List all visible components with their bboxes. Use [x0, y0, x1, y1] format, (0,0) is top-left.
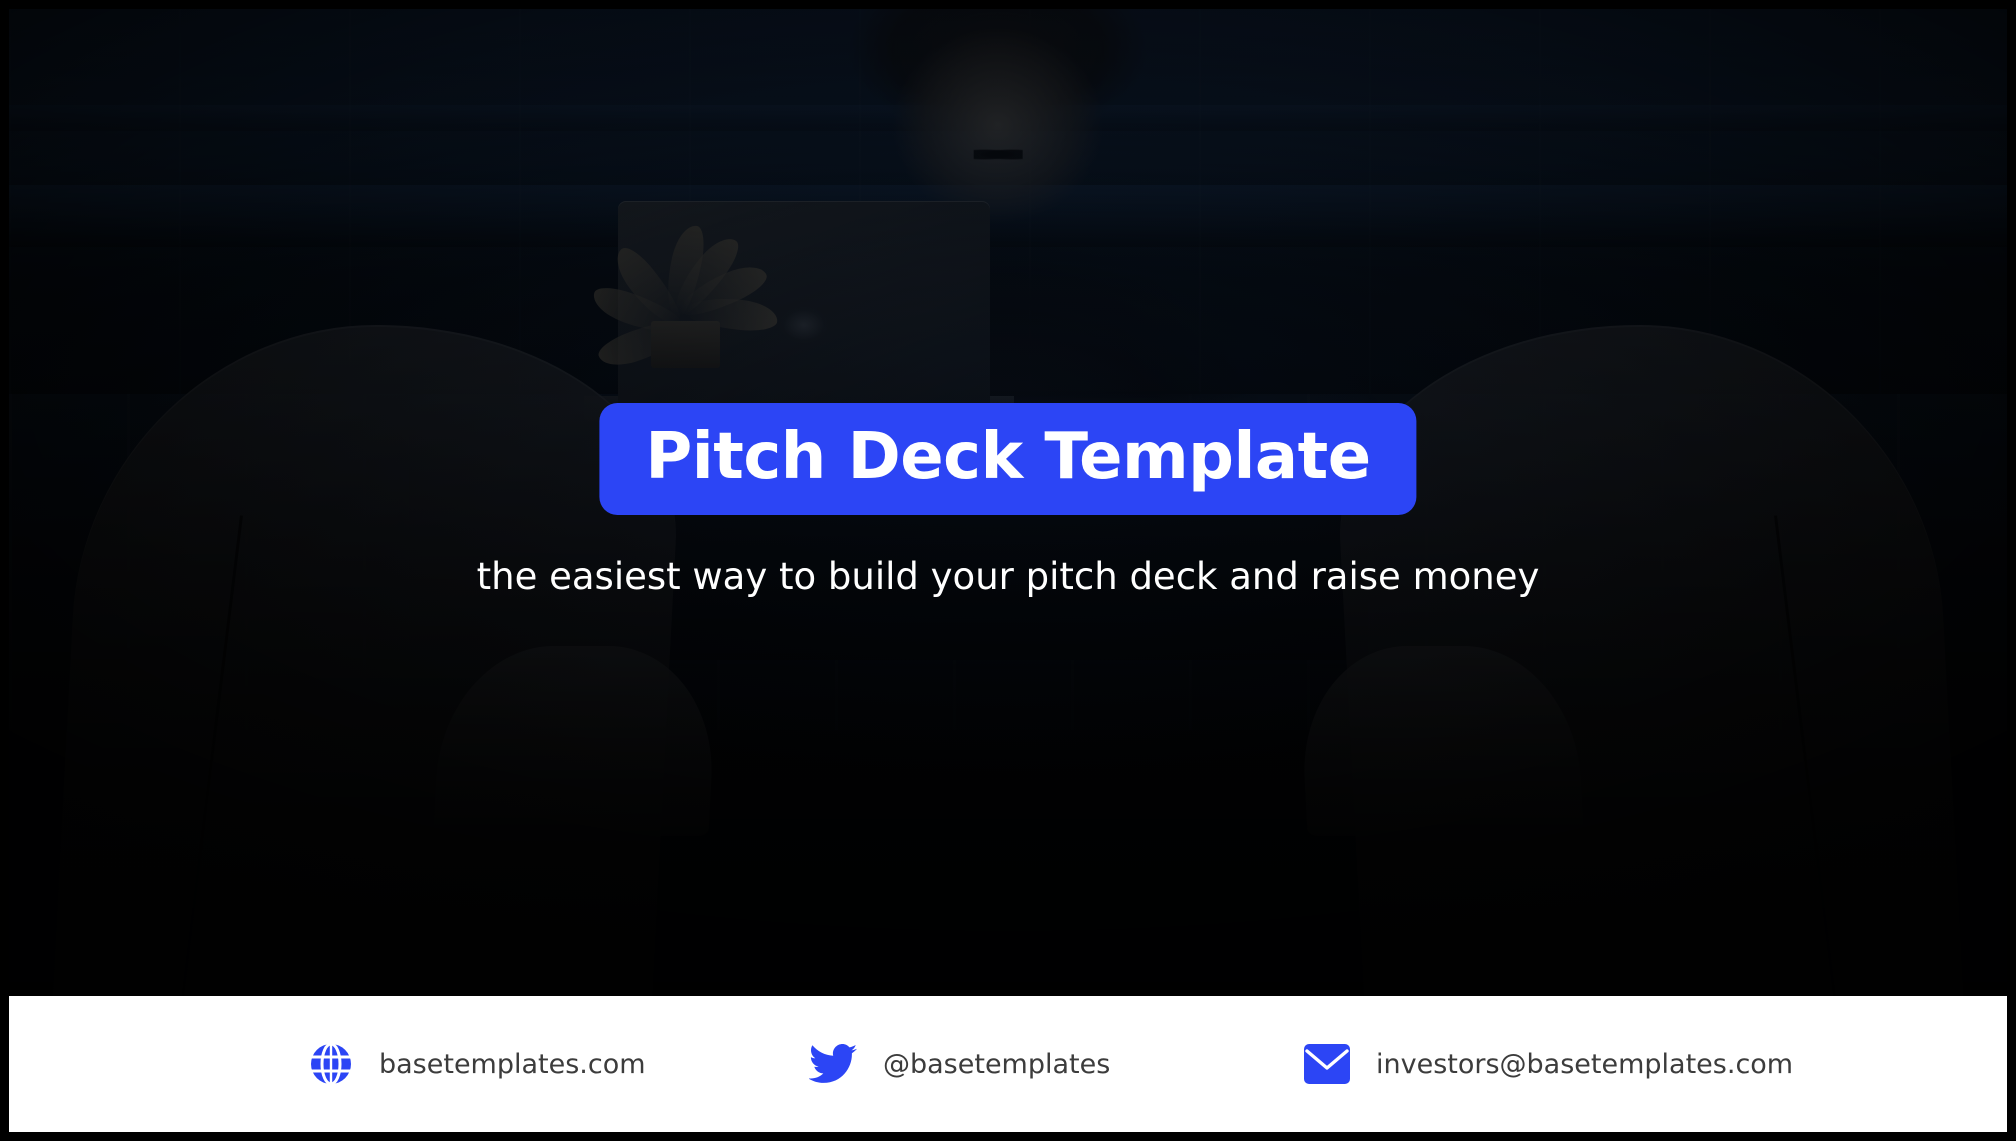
hero-background-photo: Pitch Deck Template the easiest way to b… [9, 9, 2007, 996]
contact-website[interactable]: basetemplates.com [309, 1042, 646, 1086]
page-title: Pitch Deck Template [645, 425, 1370, 489]
contact-twitter-label: @basetemplates [883, 1051, 1110, 1078]
contact-email[interactable]: investors@basetemplates.com [1304, 1044, 1793, 1084]
globe-icon [309, 1042, 353, 1086]
footer-content: basetemplates.com @basetemplates in [9, 996, 2007, 1132]
contact-website-label: basetemplates.com [379, 1051, 646, 1078]
envelope-icon [1304, 1044, 1350, 1084]
page-subtitle: the easiest way to build your pitch deck… [477, 557, 1540, 598]
title-badge: Pitch Deck Template [599, 403, 1416, 515]
twitter-icon [809, 1044, 857, 1084]
contact-twitter[interactable]: @basetemplates [809, 1044, 1110, 1084]
footer-bar: basetemplates.com @basetemplates in [9, 996, 2007, 1132]
pitch-deck-title-slide: Pitch Deck Template the easiest way to b… [0, 0, 2016, 1141]
contact-email-label: investors@basetemplates.com [1376, 1051, 1793, 1078]
